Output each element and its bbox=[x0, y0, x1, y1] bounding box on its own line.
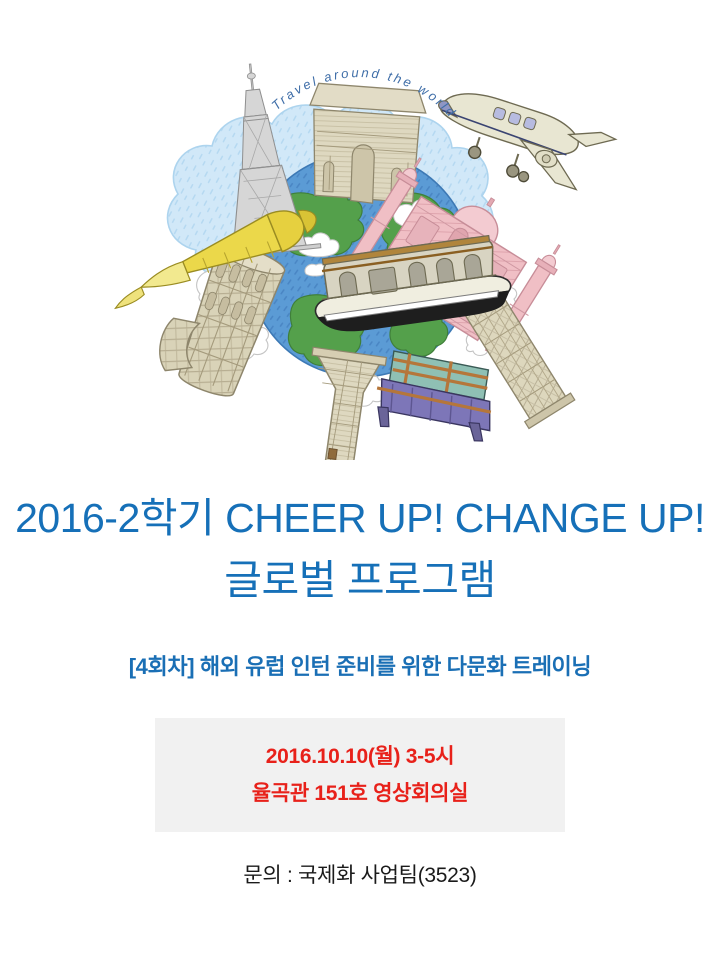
poster-subtitle: [4회차] 해외 유럽 인턴 준비를 위한 다문화 트레이닝 bbox=[0, 649, 720, 681]
event-location: 율곡관 151호 영상회의실 bbox=[252, 783, 468, 804]
travel-globe-illustration: Travel around the world bbox=[0, 0, 720, 460]
event-poster: Travel around the world 2016-2학기 CHEER U… bbox=[0, 0, 720, 960]
contact-line: 문의 : 국제화 사업팀(3523) bbox=[0, 859, 720, 889]
poster-title-block: 2016-2학기 CHEER UP! CHANGE UP! 글로벌 프로그램 bbox=[0, 494, 720, 605]
title-line-1: 2016-2학기 CHEER UP! CHANGE UP! bbox=[0, 494, 720, 542]
event-datetime: 2016.10.10(월) 3-5시 bbox=[266, 746, 455, 767]
schedule-info-box: 2016.10.10(월) 3-5시 율곡관 151호 영상회의실 bbox=[155, 718, 565, 832]
title-line-2: 글로벌 프로그램 bbox=[0, 556, 720, 604]
globe-illustration-svg: Travel around the world bbox=[0, 0, 720, 460]
